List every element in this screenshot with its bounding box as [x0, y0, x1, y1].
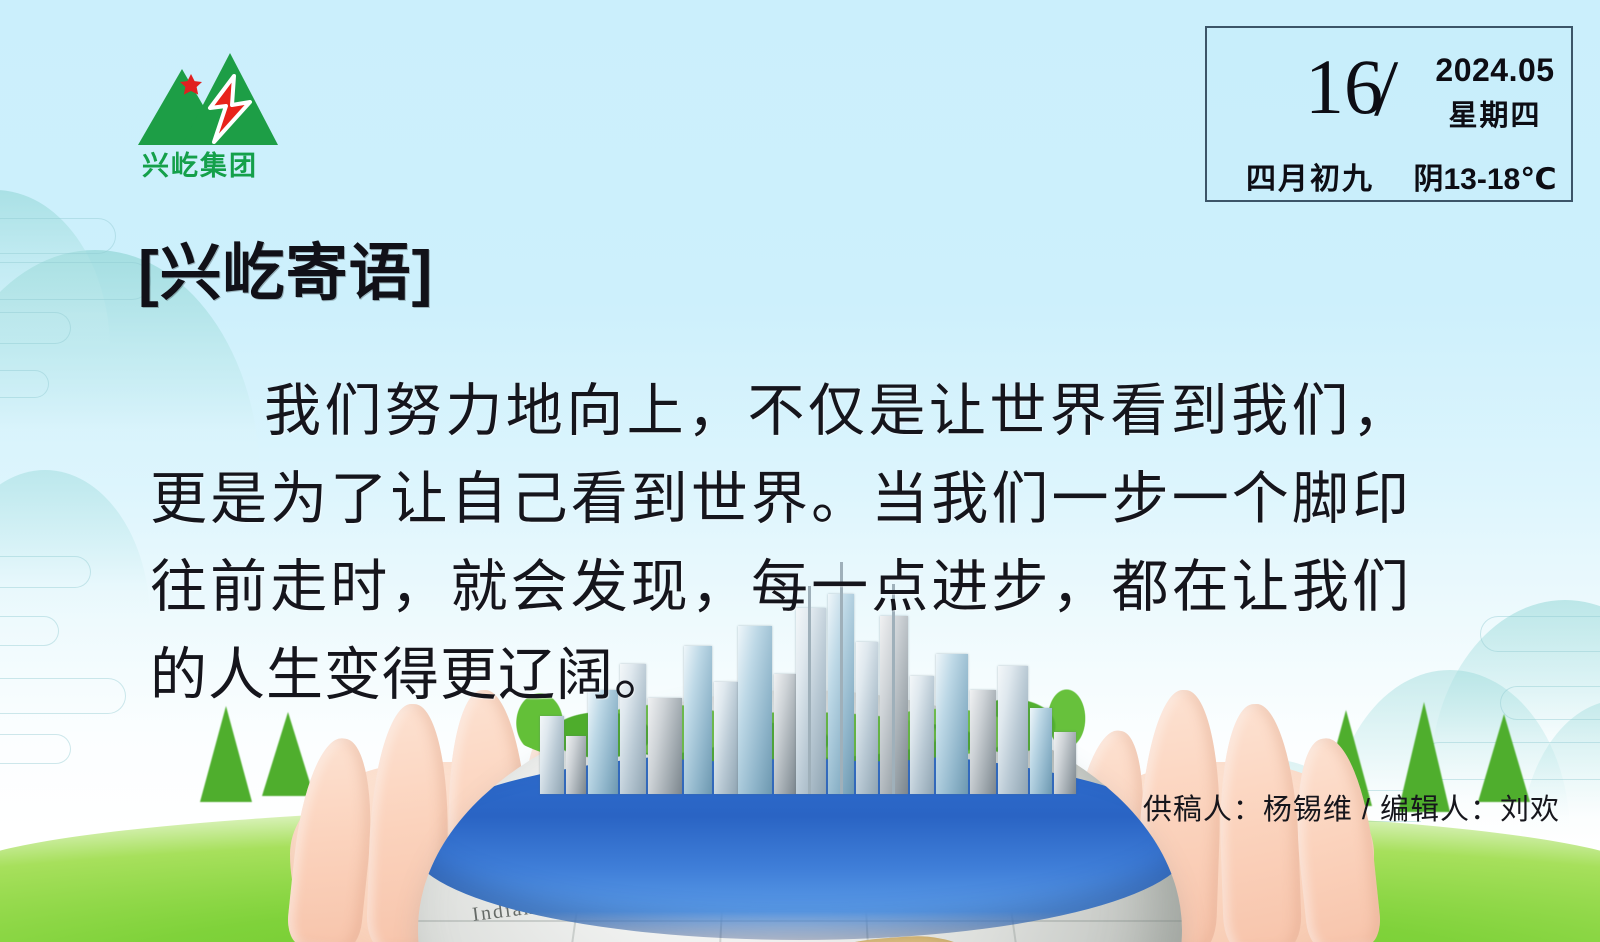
building [1054, 732, 1076, 794]
weather-info: 阴13-18℃ [1403, 154, 1567, 198]
page-title: [兴屹寄语] [138, 222, 433, 312]
red-lightning-bolt-icon [200, 74, 260, 146]
cloud-swirl [0, 262, 151, 300]
weekday: 星期四 [1425, 92, 1565, 134]
year-month: 2024.05 [1425, 52, 1565, 89]
day-number: 16 [1231, 44, 1383, 130]
body-paragraph: 我们努力地向上，不仅是让世界看到我们，更是为了让自己看到世界。当我们一步一个脚印… [150, 368, 1410, 720]
mountain-shape [0, 190, 110, 350]
poster-canvas: Indian Ocean AUSTRALIA Christmas I. Coco… [0, 0, 1600, 942]
cloud-swirl [0, 556, 91, 588]
mountain-shape [0, 470, 150, 620]
building [566, 736, 586, 794]
credit-line: 供稿人：杨锡维 / 编辑人：刘欢 [1140, 786, 1560, 828]
building [1030, 708, 1052, 794]
lunar-date: 四月初九 [1231, 154, 1389, 198]
date-separator: / [1373, 46, 1398, 132]
cloud-swirl [0, 678, 126, 714]
logo-wordmark: 兴屹集团 [120, 144, 280, 183]
cloud-swirl [0, 370, 49, 398]
cloud-swirl [1480, 616, 1600, 652]
cloud-swirl [0, 218, 116, 254]
building [540, 716, 564, 794]
date-weather-card: 16 / 2024.05 星期四 四月初九 阴13-18℃ [1205, 26, 1573, 202]
cloud-swirl [0, 312, 71, 344]
date-primary-row: 16 / 2024.05 星期四 [1207, 48, 1575, 140]
company-logo[interactable]: 兴屹集团 [120, 48, 280, 178]
cloud-swirl [0, 616, 59, 646]
